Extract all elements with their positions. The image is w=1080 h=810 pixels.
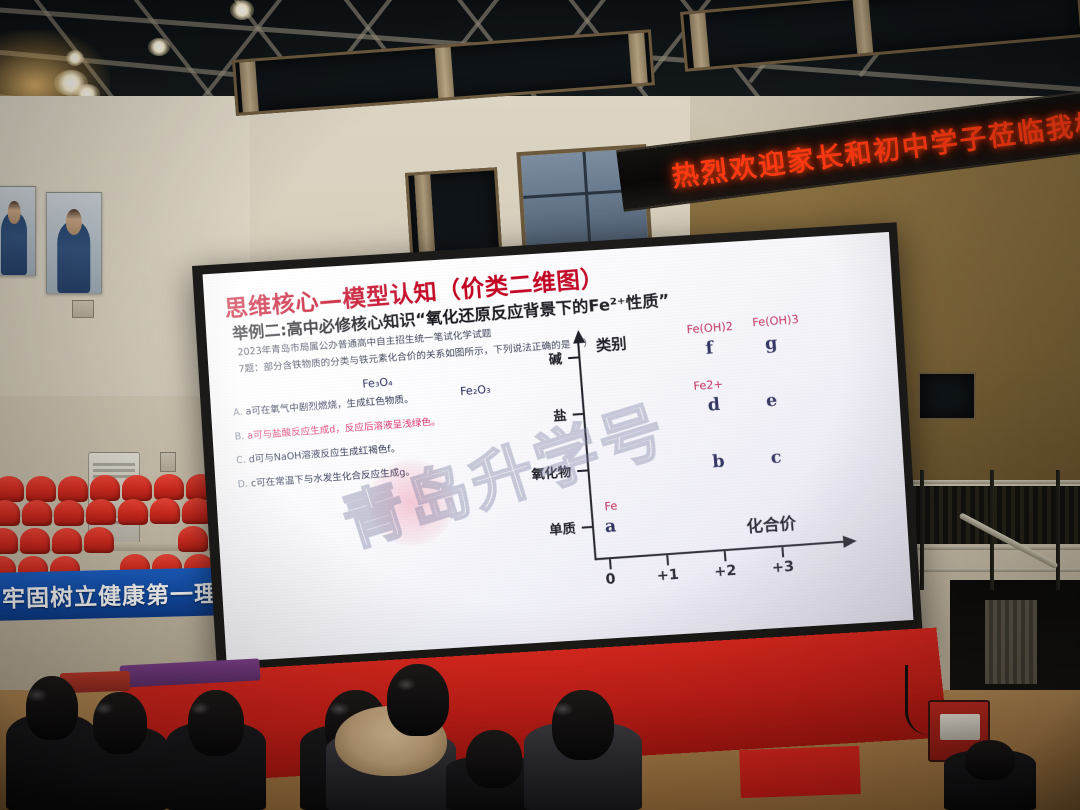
option-a-mark: A. [233,407,243,419]
audience-member [524,690,642,810]
option-c-text: d可与NaOH溶液反应生成红褐色f。 [248,443,400,465]
chart-ytick-label-oxide: 氧化物 [531,461,572,483]
chart-point-c: c [770,447,782,468]
chart-point-b: b [712,451,726,472]
chart-x-axis-title: 化合价 [745,509,796,537]
annotation-fe2o3: Fe₂O₃ [460,383,491,398]
radiator [985,600,1037,684]
presentation-slide: 思维核心—模型认知（价类二维图） 举例二:高中必修核心知识“氧化还原反应背景下的… [203,232,915,673]
projection-screen[interactable]: 思维核心—模型认知（价类二维图） 举例二:高中必修核心知识“氧化还原反应背景下的… [192,222,924,685]
chart-point-g-note: Fe(OH)3 [752,313,799,330]
chart-point-a: a [604,516,617,537]
option-a-text: a可在氧气中剧烈燃烧，生成红色物质。 [245,394,414,418]
chart-point-e: e [765,390,778,411]
wall-fixture [72,300,94,318]
chart-ytick-label-element: 单质 [548,518,576,539]
chart-y-axis-title: 类别 [595,332,627,356]
audience-member [166,690,266,810]
annotation-fe3o4: Fe₃O₄ [362,375,393,390]
audience-member [944,740,1036,810]
chart-xtick-label-2: +2 [714,563,737,581]
option-c-mark: C. [236,455,247,467]
option-d-mark: D. [237,479,248,491]
chart-ytick-label-base: 碱 [548,348,563,368]
chart-x-tick [609,559,612,569]
ceiling-spotlight [148,38,170,56]
chart-point-d-note: Fe2+ [693,378,724,393]
chart-point-g: g [764,333,778,354]
chart-point-f: f [705,338,714,359]
chart-x-tick [724,551,727,561]
chart-point-f-note: Fe(OH)2 [686,320,733,337]
option-c: C.d可与NaOH溶液反应生成红褐色f。 [236,440,401,466]
blue-banner-text: 牢固树立健康第一理念 [0,574,235,614]
chart-x-arrow [843,535,857,548]
option-b-text: a可与盐酸反应生成d，反应后溶液呈浅绿色。 [247,416,441,441]
chart-xtick-label-3: +3 [771,559,794,577]
chart-xtick-label-1: +1 [656,567,679,585]
athlete-poster [46,192,102,294]
chart-x-tick [781,547,784,557]
stage-step [739,746,861,798]
ceiling-spotlight [230,0,254,20]
chart-point-d: d [707,395,721,416]
chart-point-a-note: Fe [604,499,618,513]
wall-fixture [160,452,176,472]
chart-xtick-label-0: 0 [605,571,616,588]
chart-ytick-label-salt: 盐 [552,405,567,425]
window-tan-wall [918,372,976,420]
health-slogan-banner: 牢固树立健康第一理念 [0,567,235,621]
chart-x-axis [594,541,847,561]
option-b: B.a可与盐酸反应生成d，反应后溶液呈浅绿色。 [234,413,441,442]
audience-member [72,692,168,810]
chart-x-tick [666,555,669,565]
option-a: A.a可在氧气中剧烈燃烧，生成红色物质。 [233,391,414,419]
valence-category-chart: 类别 化合价 碱 盐 氧化物 单质 0 +1 [507,304,891,634]
athlete-poster [0,186,36,276]
ceiling-spotlight [66,50,84,66]
photo-scene: 热烈欢迎家长和初中学子莅临我校参 牢固树立健康第一理念 [0,0,1080,810]
option-b-mark: B. [234,431,244,443]
chart-y-arrow [572,330,585,344]
